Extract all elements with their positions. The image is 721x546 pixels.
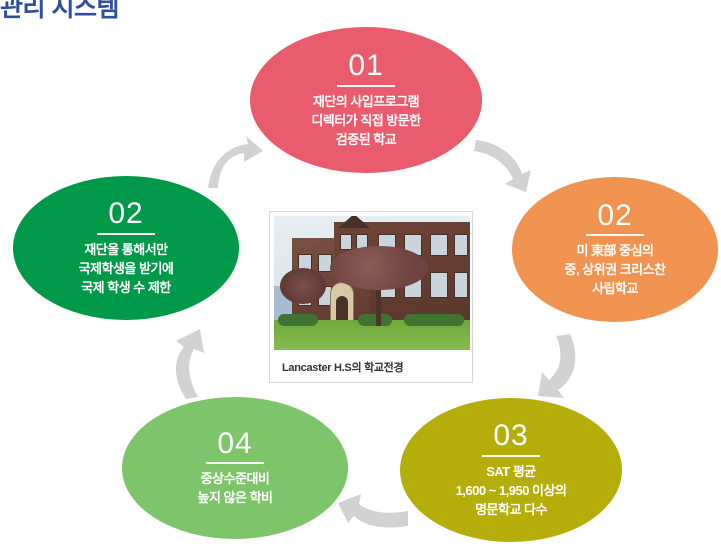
photo-hedge — [358, 314, 392, 326]
cycle-node-02-right[interactable]: 02 미 東部 중심의 중, 상위권 크리스찬 사립학교 — [512, 177, 718, 322]
cycle-node-04[interactable]: 04 중상수준대비 높지 않은 학비 — [122, 397, 348, 539]
center-photo-card: Lancaster H.S의 학교전경 — [269, 211, 473, 383]
photo-window — [454, 234, 468, 256]
cycle-node-03-description: SAT 평균 1,600 ~ 1,950 이상의 명문학교 다수 — [446, 463, 577, 520]
cycle-node-02-right-number: 02 — [586, 200, 644, 237]
cycle-node-01-number: 01 — [337, 50, 395, 87]
curved-arrow-up-right-icon — [202, 132, 266, 196]
school-photo — [274, 216, 470, 350]
cycle-diagram: 01 재단의 사입프로그램 디렉터가 직접 방문한 검증된 학교 02 미 東部… — [0, 0, 721, 546]
cycle-node-04-number: 04 — [206, 428, 264, 465]
photo-hedge — [404, 314, 464, 326]
photo-window — [454, 272, 468, 298]
photo-caption: Lancaster H.S의 학교전경 — [274, 350, 468, 375]
cycle-node-02-right-description: 미 東部 중심의 중, 상위권 크리스찬 사립학교 — [554, 242, 675, 299]
curved-arrow-up-icon — [150, 325, 210, 403]
curved-arrow-down-left-icon — [526, 330, 588, 404]
cycle-node-01[interactable]: 01 재단의 사입프로그램 디렉터가 직접 방문한 검증된 학교 — [250, 27, 482, 173]
cycle-node-02-left[interactable]: 02 재단을 통해서만 국제학생을 받기에 국제 학생 수 제한 — [13, 176, 239, 320]
photo-window — [430, 272, 448, 298]
curved-arrow-left-icon — [334, 486, 412, 538]
photo-tree-crown — [330, 246, 428, 290]
cycle-node-04-description: 중상수준대비 높지 않은 학비 — [188, 470, 283, 508]
cycle-node-03[interactable]: 03 SAT 평균 1,600 ~ 1,950 이상의 명문학교 다수 — [400, 398, 622, 542]
photo-tower-roof — [338, 216, 370, 228]
cycle-node-02-left-number: 02 — [97, 198, 155, 235]
photo-window — [430, 234, 448, 256]
photo-tree-small — [280, 268, 326, 304]
cycle-node-01-description: 재단의 사입프로그램 디렉터가 직접 방문한 검증된 학교 — [301, 93, 430, 150]
cycle-node-02-left-description: 재단을 통해서만 국제학생을 받기에 국제 학생 수 제한 — [69, 241, 184, 298]
photo-window — [340, 234, 352, 250]
curved-arrow-down-right-icon — [472, 132, 536, 196]
cycle-node-03-number: 03 — [482, 420, 540, 457]
photo-hedge — [278, 314, 318, 326]
